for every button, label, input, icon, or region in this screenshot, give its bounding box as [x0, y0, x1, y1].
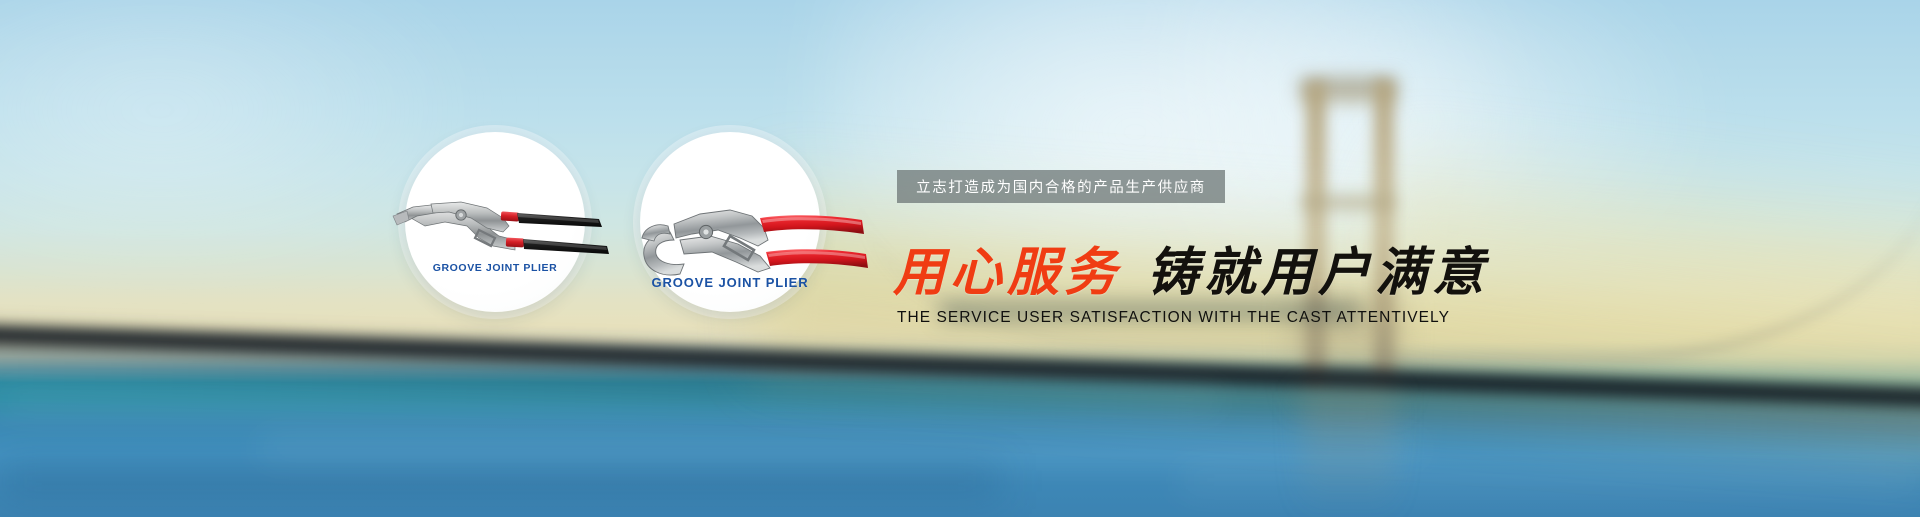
product-caption-1: GROOVE JOINT PLIER	[405, 262, 585, 274]
product-caption-2: GROOVE JOINT PLIER	[640, 275, 820, 290]
hero-banner: GROOVE JOINT PLIER	[0, 0, 1920, 517]
slogan-bar: 立志打造成为国内合格的产品生产供应商	[897, 170, 1225, 203]
groove-joint-plier-black-icon	[387, 180, 617, 270]
product-circle-2[interactable]: GROOVE JOINT PLIER	[640, 132, 820, 312]
page-title: 用心服务 铸就用户满意	[893, 248, 1489, 300]
headline-red-text: 用心服务	[893, 248, 1121, 300]
slogan-bar-text: 立志打造成为国内合格的产品生产供应商	[916, 176, 1206, 197]
bridge-tower-crossbeam	[1302, 196, 1394, 209]
water-shadow-band	[0, 466, 1000, 496]
water-streak-2	[260, 440, 1420, 456]
headline-black-text: 铸就用户满意	[1147, 248, 1489, 300]
product-circle-1[interactable]: GROOVE JOINT PLIER	[405, 132, 585, 312]
water-streak-3	[1180, 470, 1920, 490]
water-streak-1	[0, 392, 1220, 410]
subheadline-text: THE SERVICE USER SATISFACTION WITH THE C…	[897, 309, 1450, 327]
plier-illustration-1	[405, 132, 585, 312]
